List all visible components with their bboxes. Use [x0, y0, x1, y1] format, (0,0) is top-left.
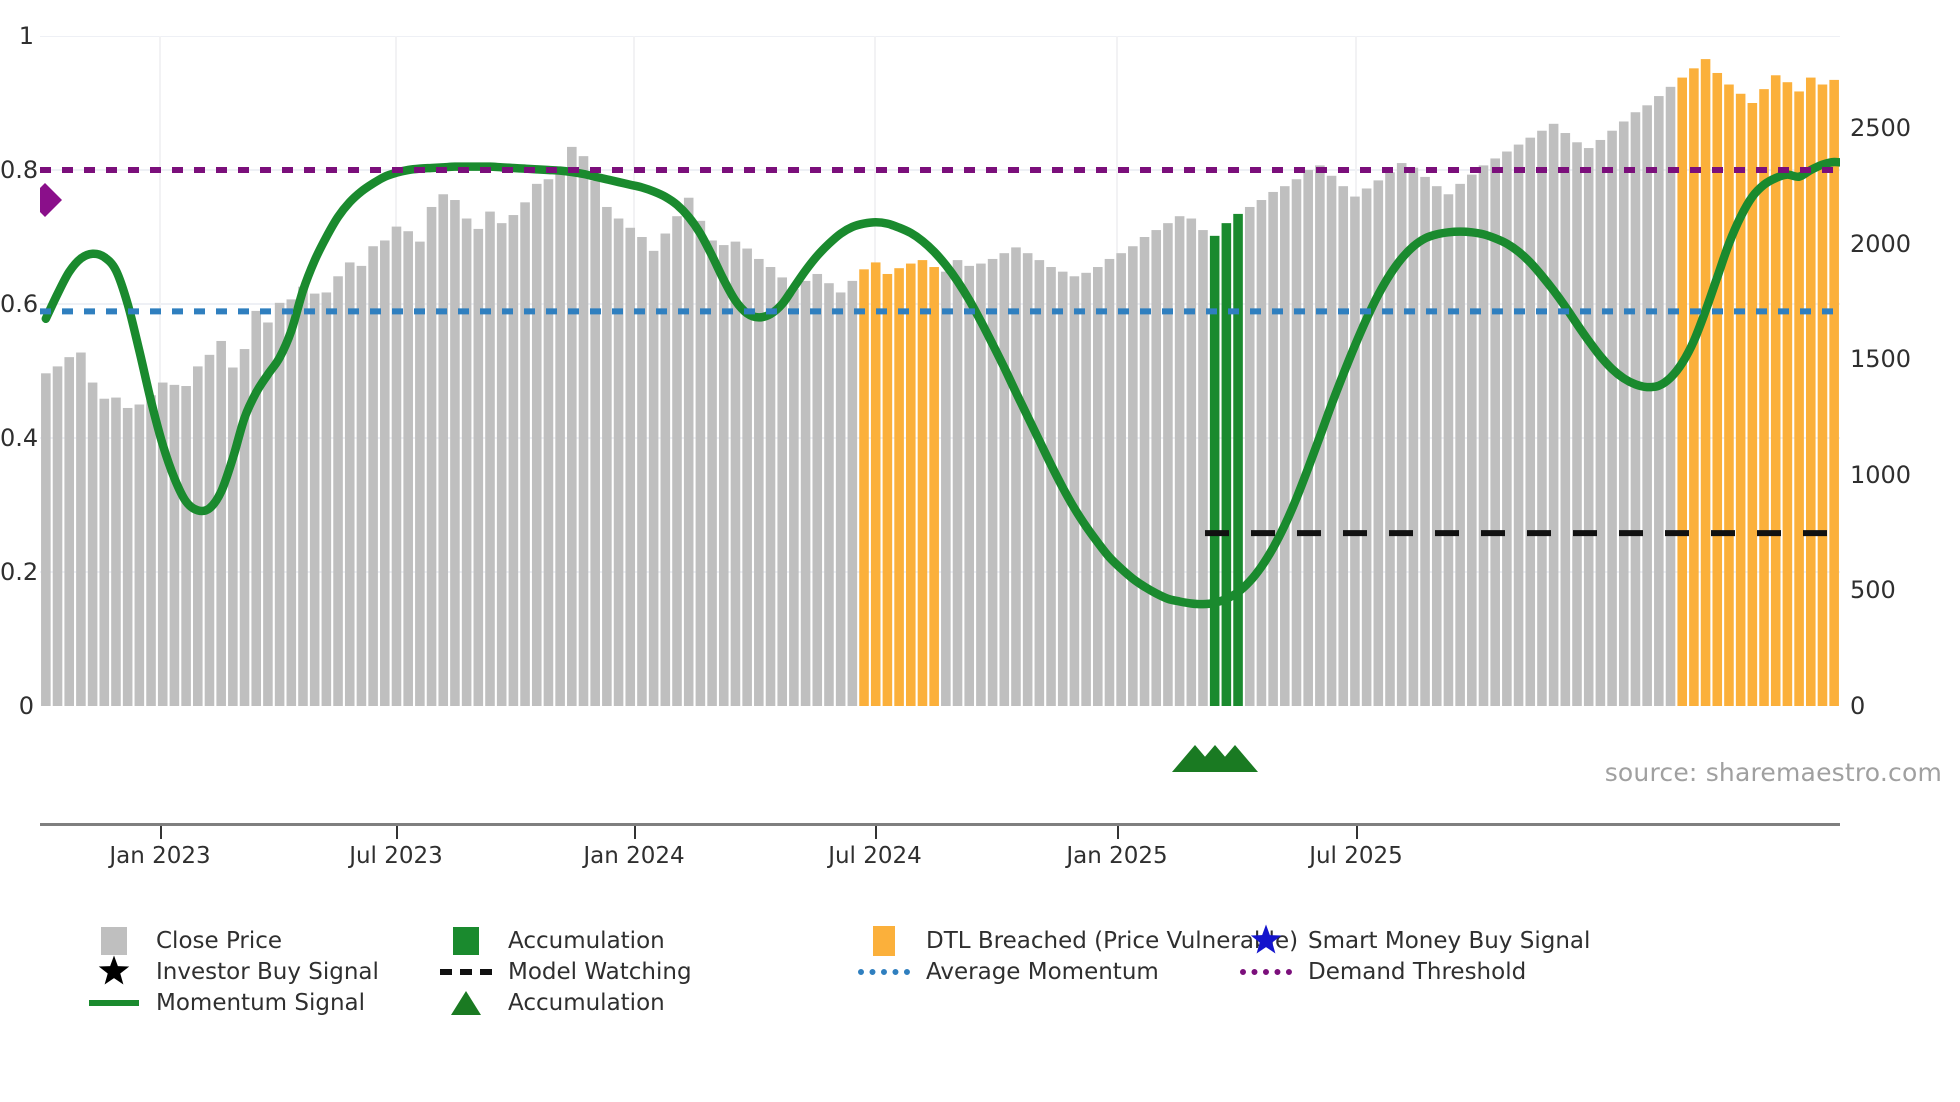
bar — [1642, 105, 1652, 706]
orange-square-icon — [856, 927, 912, 955]
bar — [801, 281, 811, 706]
legend-row: Investor Buy SignalModel WatchingAverage… — [86, 956, 1946, 987]
bar — [590, 180, 600, 706]
bar — [1245, 207, 1255, 706]
bar — [754, 259, 764, 706]
bar — [287, 299, 297, 706]
bar — [216, 341, 226, 706]
bar — [894, 268, 904, 706]
bar — [193, 366, 203, 706]
left-y-tick-label: 0.4 — [0, 424, 34, 452]
grey-square-icon — [86, 927, 142, 955]
chart-root: { "chart_data": { "type": "bar", "title"… — [0, 0, 1960, 1102]
legend-item-label: Smart Money Buy Signal — [1308, 928, 1590, 954]
bar — [1631, 112, 1641, 706]
legend-item-demand-threshold[interactable]: Demand Threshold — [1238, 956, 1526, 987]
bar — [637, 237, 647, 706]
bar — [1116, 253, 1126, 706]
bar — [812, 274, 822, 706]
bar — [625, 228, 635, 706]
bar — [1374, 180, 1384, 706]
bar — [403, 231, 413, 706]
bar — [684, 198, 694, 706]
chart-canvas — [40, 36, 1840, 706]
accumulation-triangle-icon — [1192, 745, 1238, 772]
bar — [1549, 124, 1559, 706]
bar — [1794, 91, 1804, 706]
bar — [170, 385, 180, 706]
bar — [883, 274, 893, 706]
x-axis-tick — [634, 826, 636, 839]
bar — [1444, 194, 1454, 706]
legend-item-model-watching[interactable]: Model Watching — [438, 956, 692, 987]
bar — [368, 246, 378, 706]
bar — [1455, 184, 1465, 706]
bar — [251, 311, 261, 706]
bar — [1572, 142, 1582, 706]
accumulation-triangle-icon — [1172, 745, 1218, 772]
left-y-tick-label: 0.2 — [0, 558, 34, 586]
bar — [1607, 131, 1617, 706]
x-axis-tick-label: Jul 2023 — [349, 843, 443, 869]
bar — [614, 219, 624, 706]
bar — [322, 292, 332, 706]
bar — [1023, 253, 1033, 706]
legend-item-label: Momentum Signal — [156, 990, 365, 1016]
bar — [1362, 188, 1372, 706]
bar — [1350, 197, 1360, 706]
bar — [1093, 267, 1103, 706]
bar — [602, 207, 612, 706]
right-y-tick-label: 500 — [1850, 576, 1896, 604]
blue-dotted-line-icon — [856, 958, 912, 986]
bar — [438, 194, 448, 706]
legend-item-label: Accumulation — [508, 928, 665, 954]
bar — [135, 405, 145, 707]
bar — [906, 264, 916, 706]
right-y-tick-label: 2000 — [1850, 230, 1911, 258]
bar — [649, 251, 659, 706]
plot-area — [40, 36, 1840, 706]
bar — [123, 408, 133, 706]
bar — [228, 368, 238, 706]
bar — [345, 262, 355, 706]
bar — [1105, 259, 1115, 706]
right-y-tick-label: 1500 — [1850, 345, 1911, 373]
black-star-icon — [86, 958, 142, 986]
bar — [824, 283, 834, 706]
legend-item-accumulation[interactable]: Accumulation — [438, 925, 665, 956]
bar — [555, 172, 565, 706]
bar — [497, 223, 507, 706]
bar — [1701, 59, 1711, 706]
legend-item-dtl-breached-price-vulnerable[interactable]: DTL Breached (Price Vulnerable) — [856, 925, 1298, 956]
bar — [1175, 216, 1185, 706]
bar — [380, 240, 390, 706]
bar — [1736, 94, 1746, 706]
bar — [789, 289, 799, 706]
x-axis-tick-label: Jan 2023 — [109, 843, 210, 869]
left-y-tick-label: 0 — [0, 692, 34, 720]
bar — [181, 386, 191, 706]
x-axis-tick — [160, 826, 162, 839]
bar — [661, 234, 671, 706]
bar — [298, 287, 308, 706]
x-axis-tick-label: Jan 2024 — [583, 843, 684, 869]
x-axis-tick — [875, 826, 877, 839]
bar — [1151, 230, 1161, 706]
x-axis-tick — [396, 826, 398, 839]
bar — [1479, 165, 1489, 706]
bar — [1654, 96, 1664, 706]
bar — [1397, 163, 1407, 706]
legend-row: Momentum SignalAccumulation — [86, 987, 1946, 1018]
left-y-tick-label: 0.8 — [0, 156, 34, 184]
bar — [929, 267, 939, 706]
legend-item-label: Accumulation — [508, 990, 665, 1016]
bar — [1128, 246, 1138, 706]
legend-item-label: Investor Buy Signal — [156, 959, 379, 985]
right-y-tick-label: 1000 — [1850, 461, 1911, 489]
bar — [427, 207, 437, 706]
bar — [1292, 179, 1302, 706]
right-y-tick-label: 2500 — [1850, 114, 1911, 142]
bar — [1035, 260, 1045, 706]
bar — [918, 260, 928, 706]
bar — [836, 292, 846, 706]
bar — [988, 259, 998, 706]
purple-dotted-line-icon — [1238, 958, 1294, 986]
bar — [1222, 223, 1232, 706]
bar — [1303, 170, 1313, 706]
bar — [53, 366, 63, 706]
x-axis-tick — [1356, 826, 1358, 839]
left-y-tick-label: 0.6 — [0, 290, 34, 318]
bar — [76, 353, 86, 706]
bar — [1233, 214, 1243, 706]
legend-item-average-momentum[interactable]: Average Momentum — [856, 956, 1159, 987]
bar — [357, 266, 367, 706]
bar — [766, 267, 776, 706]
bar — [1514, 145, 1524, 706]
bar — [532, 184, 542, 706]
legend-item-smart-money-buy-signal[interactable]: Smart Money Buy Signal — [1238, 925, 1590, 956]
bar — [392, 227, 402, 706]
legend-item-momentum-signal[interactable]: Momentum Signal — [86, 987, 365, 1018]
bar — [859, 269, 869, 706]
bar — [1432, 186, 1442, 706]
bar — [1210, 236, 1220, 706]
demand-threshold-start-diamond — [40, 183, 62, 217]
x-axis-line — [40, 823, 1840, 826]
bar — [462, 219, 472, 706]
bar — [450, 200, 460, 706]
bar — [64, 357, 74, 706]
legend-item-label: Average Momentum — [926, 959, 1159, 985]
bar — [777, 277, 787, 706]
bar — [1140, 237, 1150, 706]
x-axis-tick-label: Jul 2025 — [1309, 843, 1403, 869]
bar — [1829, 80, 1839, 706]
bar — [1198, 230, 1208, 706]
x-axis-tick-label: Jul 2024 — [828, 843, 922, 869]
bar — [111, 398, 121, 706]
bar — [953, 260, 963, 706]
bar — [1502, 152, 1512, 706]
bar — [1280, 186, 1290, 706]
bar — [579, 156, 589, 706]
bar — [696, 221, 706, 706]
bar — [146, 395, 156, 706]
bar — [1338, 186, 1348, 706]
x-axis-tick — [1117, 826, 1119, 839]
bar — [474, 229, 484, 706]
bar — [1257, 200, 1267, 706]
bar — [509, 215, 519, 706]
bar — [1818, 85, 1828, 706]
bar — [1689, 68, 1699, 706]
source-attribution: source: sharemaestro.com — [1605, 758, 1942, 787]
blue-star-icon — [1238, 927, 1294, 955]
bar — [999, 253, 1009, 706]
black-dashed-line-icon — [438, 958, 494, 986]
bar — [848, 281, 858, 706]
bar — [1327, 176, 1337, 706]
bar — [1584, 148, 1594, 706]
bar — [1724, 85, 1734, 706]
legend-item-label: Demand Threshold — [1308, 959, 1526, 985]
bar — [964, 266, 974, 706]
left-y-tick-label: 1 — [0, 22, 34, 50]
bar — [1046, 267, 1056, 706]
bar — [1561, 133, 1571, 706]
bar — [1525, 138, 1535, 706]
bar — [1596, 140, 1606, 706]
bar — [1385, 172, 1395, 706]
bar — [1420, 177, 1430, 706]
bar — [1081, 273, 1091, 706]
legend-item-label: Model Watching — [508, 959, 692, 985]
bar — [544, 179, 554, 706]
bar — [1537, 131, 1547, 706]
bar — [1619, 121, 1629, 706]
green-square-icon — [438, 927, 494, 955]
right-y-tick-label: 0 — [1850, 692, 1865, 720]
bar — [205, 355, 215, 706]
bar — [1070, 276, 1080, 706]
bar — [333, 276, 343, 706]
bar — [1011, 247, 1021, 706]
legend-item-close-price[interactable]: Close Price — [86, 925, 282, 956]
bar — [672, 216, 682, 706]
green-triangle-icon — [438, 989, 494, 1017]
bar — [567, 147, 577, 706]
bar — [1467, 175, 1477, 706]
bar — [1666, 87, 1676, 706]
bar — [485, 212, 495, 706]
bar — [1187, 219, 1197, 706]
bar — [310, 294, 320, 706]
bar — [41, 373, 51, 706]
bar — [1163, 223, 1173, 706]
bar — [520, 202, 530, 706]
bar — [941, 272, 951, 706]
legend-row: Close PriceAccumulationDTL Breached (Pri… — [86, 925, 1946, 956]
bar — [88, 383, 98, 706]
bar — [1268, 192, 1278, 706]
legend-item-investor-buy-signal[interactable]: Investor Buy Signal — [86, 956, 379, 987]
legend-item-label: Close Price — [156, 928, 282, 954]
x-axis-tick-label: Jan 2025 — [1066, 843, 1167, 869]
bar — [871, 262, 881, 706]
accumulation-triangle-icon — [1212, 745, 1258, 772]
bar — [99, 399, 109, 706]
green-line-icon — [86, 989, 142, 1017]
legend-item-accumulation[interactable]: Accumulation — [438, 987, 665, 1018]
